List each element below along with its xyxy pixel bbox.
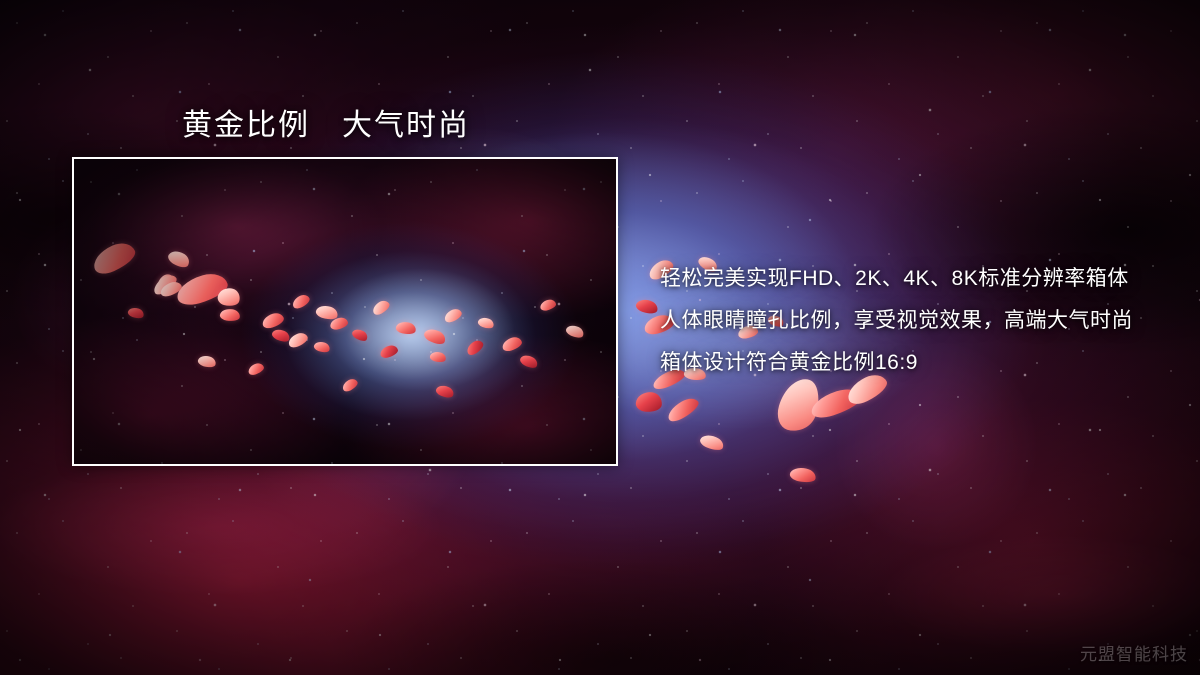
presentation-slide: 黄金比例 大气时尚 轻松完美实现FHD、2K、4K、8K标准分辨率箱体 人体眼睛… (0, 0, 1200, 675)
body-line-1: 轻松完美实现FHD、2K、4K、8K标准分辨率箱体 (660, 258, 1180, 300)
body-text-block: 轻松完美实现FHD、2K、4K、8K标准分辨率箱体 人体眼睛瞳孔比例，享受视觉效… (660, 258, 1180, 384)
galaxy-preview-frame[interactable] (72, 157, 618, 466)
page-title: 黄金比例 大气时尚 (182, 100, 470, 144)
body-line-3: 箱体设计符合黄金比例16:9 (660, 342, 1180, 384)
preview-vignette (74, 159, 616, 464)
body-line-2: 人体眼睛瞳孔比例，享受视觉效果，高端大气时尚 (660, 300, 1180, 342)
watermark: 元盟智能科技 (1080, 640, 1188, 665)
